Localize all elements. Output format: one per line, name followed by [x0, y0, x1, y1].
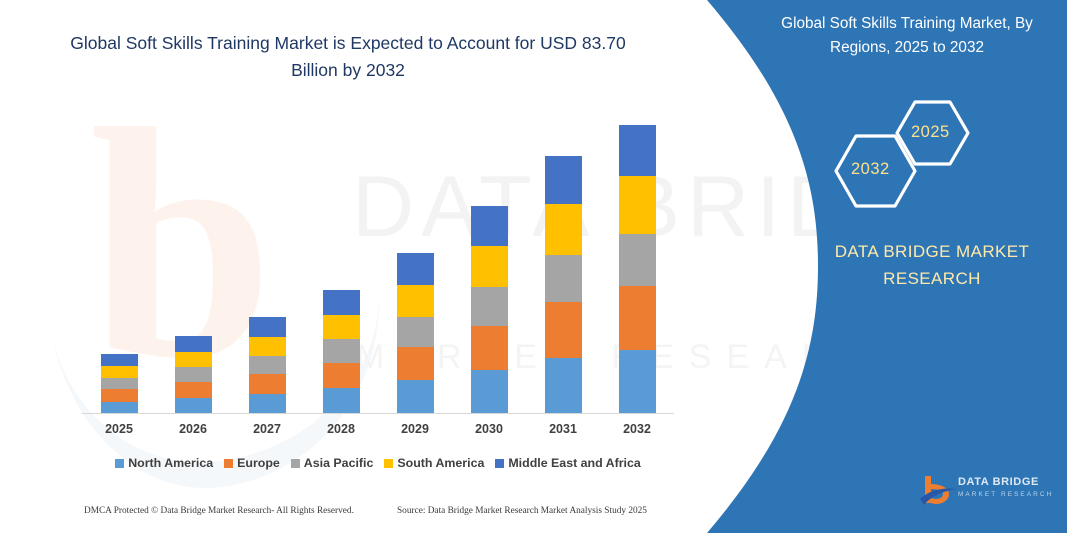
- legend-label: South America: [397, 456, 484, 470]
- stacked-bar[interactable]: [471, 206, 508, 413]
- logo-mark-icon: [918, 472, 958, 512]
- brand-line-1: DATA BRIDGE MARKET: [812, 238, 1052, 265]
- legend-item[interactable]: Middle East and Africa: [495, 456, 640, 470]
- bar-segment: [323, 339, 360, 362]
- bar-segment: [249, 317, 286, 337]
- bar-segment: [323, 290, 360, 315]
- legend-label: Europe: [237, 456, 280, 470]
- stacked-bar[interactable]: [545, 156, 582, 413]
- hexagon-back-label: 2032: [851, 160, 890, 179]
- x-axis-label: 2027: [230, 422, 304, 436]
- legend-label: Middle East and Africa: [508, 456, 640, 470]
- bar-segment: [619, 350, 656, 413]
- brand-name: DATA BRIDGE MARKET RESEARCH: [812, 238, 1052, 292]
- stacked-bar[interactable]: [101, 354, 138, 413]
- legend-item[interactable]: Asia Pacific: [291, 456, 374, 470]
- logo-title: DATA BRIDGE: [958, 476, 1053, 488]
- bar-segment: [545, 255, 582, 302]
- bar-segment: [471, 287, 508, 325]
- bar-slot-2032: [600, 118, 674, 413]
- bar-segment: [471, 370, 508, 413]
- stacked-bar[interactable]: [323, 290, 360, 413]
- bar-segment: [249, 356, 286, 374]
- plot-area: [82, 118, 674, 414]
- bar-slot-2031: [526, 118, 600, 413]
- stacked-bar[interactable]: [619, 125, 656, 413]
- chart-title: Global Soft Skills Training Market is Ex…: [62, 30, 634, 84]
- bar-segment: [101, 366, 138, 378]
- bar-segment: [471, 206, 508, 246]
- chart-legend: North AmericaEuropeAsia PacificSouth Ame…: [82, 456, 674, 470]
- stacked-bar[interactable]: [175, 336, 212, 413]
- logo-subtitle: MARKET RESEARCH: [958, 491, 1053, 498]
- bar-slot-2026: [156, 118, 230, 413]
- bar-slot-2027: [230, 118, 304, 413]
- bar-segment: [619, 125, 656, 176]
- bar-segment: [175, 352, 212, 368]
- bar-segment: [397, 285, 434, 317]
- legend-item[interactable]: North America: [115, 456, 213, 470]
- legend-swatch-icon: [224, 459, 233, 468]
- hexagon-front-label: 2025: [911, 123, 950, 142]
- footer-source: Source: Data Bridge Market Research Mark…: [397, 506, 647, 516]
- bar-slot-2025: [82, 118, 156, 413]
- bar-segment: [249, 394, 286, 413]
- x-axis-labels: 20252026202720282029203020312032: [82, 422, 674, 436]
- bar-segment: [249, 337, 286, 357]
- bar-segment: [175, 382, 212, 398]
- bar-segment: [101, 389, 138, 401]
- bar-segment: [323, 388, 360, 413]
- bar-segment: [249, 374, 286, 394]
- bar-segment: [397, 380, 434, 413]
- stacked-bar[interactable]: [249, 317, 286, 413]
- bar-segment: [619, 286, 656, 351]
- panel-title: Global Soft Skills Training Market, By R…: [757, 12, 1057, 60]
- legend-label: North America: [128, 456, 213, 470]
- bar-segment: [545, 156, 582, 203]
- x-axis-label: 2028: [304, 422, 378, 436]
- bar-slot-2028: [304, 118, 378, 413]
- x-axis-label: 2032: [600, 422, 674, 436]
- bar-segment: [175, 398, 212, 413]
- bar-segment: [397, 347, 434, 381]
- bars-container: [82, 118, 674, 413]
- bar-segment: [397, 317, 434, 347]
- legend-item[interactable]: Europe: [224, 456, 280, 470]
- logo: DATA BRIDGE MARKET RESEARCH: [918, 472, 1058, 514]
- logo-text: DATA BRIDGE MARKET RESEARCH: [958, 476, 1053, 498]
- stacked-bar[interactable]: [397, 253, 434, 413]
- bar-segment: [175, 367, 212, 382]
- bar-segment: [545, 204, 582, 255]
- legend-item[interactable]: South America: [384, 456, 484, 470]
- bar-segment: [397, 253, 434, 284]
- bar-segment: [175, 336, 212, 352]
- infographic-root: b DATA BRIDGE MARKET RESEARCH Global Sof…: [0, 0, 1067, 533]
- bar-chart: [82, 118, 674, 414]
- x-axis-label: 2026: [156, 422, 230, 436]
- bar-slot-2029: [378, 118, 452, 413]
- x-axis-label: 2030: [452, 422, 526, 436]
- x-axis-line: [82, 413, 674, 414]
- x-axis-label: 2031: [526, 422, 600, 436]
- bar-segment: [101, 402, 138, 413]
- legend-swatch-icon: [291, 459, 300, 468]
- legend-swatch-icon: [495, 459, 504, 468]
- bar-segment: [619, 176, 656, 233]
- hexagon-group: 2025 2032: [820, 92, 1020, 212]
- bar-segment: [323, 363, 360, 388]
- bar-segment: [471, 246, 508, 288]
- footer-copyright: DMCA Protected © Data Bridge Market Rese…: [84, 506, 354, 516]
- bar-segment: [545, 302, 582, 358]
- bar-segment: [619, 234, 656, 286]
- x-axis-label: 2025: [82, 422, 156, 436]
- bar-segment: [323, 315, 360, 340]
- legend-swatch-icon: [384, 459, 393, 468]
- bar-slot-2030: [452, 118, 526, 413]
- bar-segment: [471, 326, 508, 370]
- x-axis-label: 2029: [378, 422, 452, 436]
- brand-line-2: RESEARCH: [812, 265, 1052, 292]
- legend-swatch-icon: [115, 459, 124, 468]
- legend-label: Asia Pacific: [304, 456, 374, 470]
- bar-segment: [101, 378, 138, 389]
- bar-segment: [101, 354, 138, 367]
- bar-segment: [545, 358, 582, 413]
